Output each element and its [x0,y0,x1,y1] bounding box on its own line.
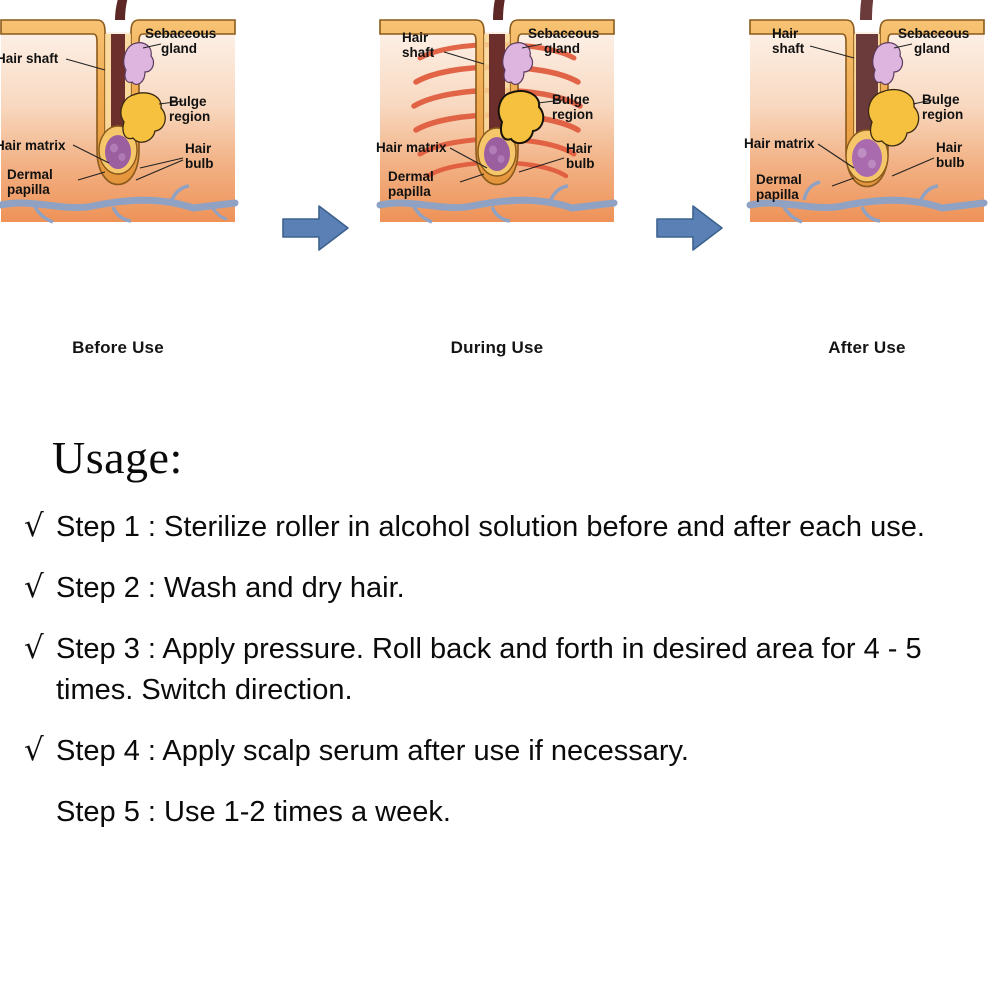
dermal-papilla-shape [484,137,510,171]
label-bulge-region-line1: Bulge [552,92,590,107]
usage-step-text: Step 3 : Apply pressure. Roll back and f… [56,629,946,711]
label-hair-bulb-line1: Hair [185,141,212,156]
panel-caption-during-use: During Use [372,338,622,358]
right-arrow-icon [279,196,353,260]
follicle-illustration-after: Hair shaft Sebaceous gland Bulge region … [742,0,992,345]
label-bulge-region-line2: region [552,107,593,122]
usage-step-text: Step 5 : Use 1-2 times a week. [56,792,946,833]
label-dermal-papilla-line1: Dermal [756,172,802,187]
label-hair-shaft-line1: Hair [402,30,429,45]
label-hair-bulb-line2: bulb [936,155,965,170]
label-dermal-papilla-line2: papilla [756,187,799,202]
usage-heading: Usage: [52,431,183,484]
follicle-panel-before-use: Hair shaft Sebaceous gland Bulge region … [0,0,243,375]
label-hair-shaft: Hair shaft [0,51,59,66]
check-mark-icon: √ [22,507,56,545]
check-mark-icon: √ [22,568,56,606]
panel-caption-before-use: Before Use [0,338,243,358]
dermal-papilla-shape [105,135,131,169]
usage-step-item: √ Step 4 : Apply scalp serum after use i… [22,731,972,772]
label-hair-bulb-line2: bulb [566,156,595,171]
hair-shaft-external [115,0,145,20]
flow-arrow-during-to-after [653,196,727,260]
label-hair-shaft-line2: shaft [402,45,435,60]
label-hair-matrix: Hair matrix [744,136,815,151]
label-bulge-region-line1: Bulge [169,94,207,109]
usage-step-item: Step 5 : Use 1-2 times a week. [22,792,972,833]
check-mark-icon: √ [22,731,56,769]
hair-shaft-external [493,0,521,20]
label-dermal-papilla-line1: Dermal [7,167,53,182]
follicle-panel-during-use: Hair shaft Sebaceous gland Bulge region … [372,0,622,375]
usage-section: Usage: √ Step 1 : Sterilize roller in al… [0,395,1000,1000]
label-bulge-region-line2: region [922,107,963,122]
label-hair-bulb-line1: Hair [566,141,593,156]
label-bulge-region-line1: Bulge [922,92,960,107]
panel-caption-after-use: After Use [742,338,992,358]
label-sebaceous-gland-line2: gland [914,41,950,56]
usage-step-text: Step 1 : Sterilize roller in alcohol sol… [56,507,946,548]
label-sebaceous-gland-line1: Sebaceous [145,26,216,41]
label-hair-matrix: Hair matrix [376,140,447,155]
usage-step-item: √ Step 3 : Apply pressure. Roll back and… [22,629,972,711]
label-sebaceous-gland-line2: gland [544,41,580,56]
label-dermal-papilla-line2: papilla [388,184,431,199]
right-arrow-icon [653,196,727,260]
label-dermal-papilla-line1: Dermal [388,169,434,184]
label-hair-matrix: Hair matrix [0,138,66,153]
flow-arrow-before-to-during [279,196,353,260]
label-hair-shaft-line2: shaft [772,41,805,56]
follicle-panel-after-use: Hair shaft Sebaceous gland Bulge region … [742,0,992,375]
label-sebaceous-gland-line2: gland [161,41,197,56]
label-sebaceous-gland-line1: Sebaceous [528,26,599,41]
usage-step-text: Step 4 : Apply scalp serum after use if … [56,731,946,772]
usage-steps-list: √ Step 1 : Sterilize roller in alcohol s… [22,507,972,853]
label-hair-bulb-line2: bulb [185,156,214,171]
label-hair-bulb-line1: Hair [936,140,963,155]
usage-step-text: Step 2 : Wash and dry hair. [56,568,946,609]
dermal-papilla-shape [852,139,882,177]
label-dermal-papilla-line2: papilla [7,182,50,197]
check-mark-icon: √ [22,629,56,667]
usage-step-item: √ Step 2 : Wash and dry hair. [22,568,972,609]
label-hair-shaft-line1: Hair [772,26,799,41]
hair-follicle-diagram-strip: Hair shaft Sebaceous gland Bulge region … [0,0,1000,380]
usage-step-item: √ Step 1 : Sterilize roller in alcohol s… [22,507,972,548]
label-sebaceous-gland-line1: Sebaceous [898,26,969,41]
follicle-illustration-before: Hair shaft Sebaceous gland Bulge region … [0,0,243,345]
hair-shaft-external [860,0,892,20]
label-bulge-region-line2: region [169,109,210,124]
follicle-illustration-during: Hair shaft Sebaceous gland Bulge region … [372,0,622,345]
